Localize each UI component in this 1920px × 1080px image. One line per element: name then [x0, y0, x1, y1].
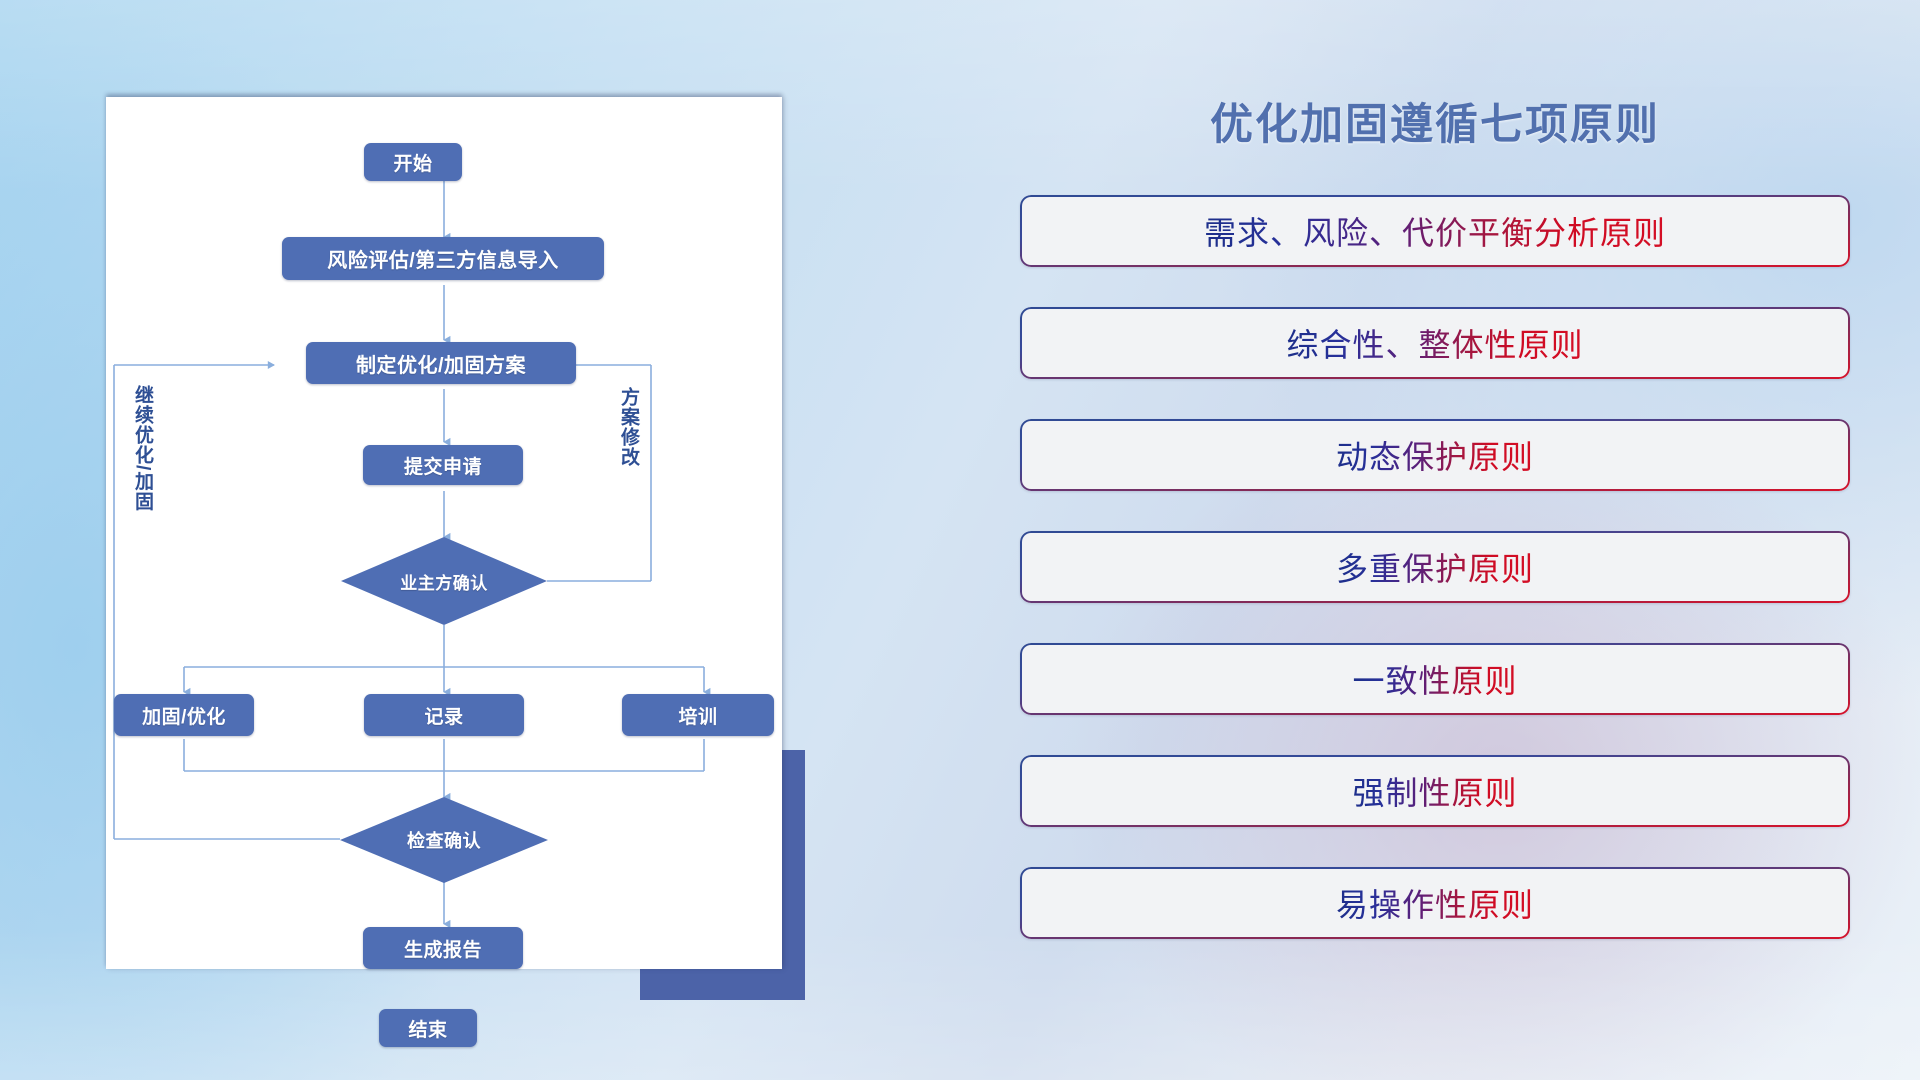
principle-item-6[interactable]: 强制性原则 [1020, 755, 1850, 827]
flow-node-generate-report[interactable]: 生成报告 [363, 927, 523, 969]
principle-item-4[interactable]: 多重保护原则 [1020, 531, 1850, 603]
flow-node-reinforce-optimize[interactable]: 加固/优化 [114, 694, 254, 736]
principle-item-3-label: 动态保护原则 [1336, 432, 1534, 478]
flow-node-submit-application[interactable]: 提交申请 [363, 445, 523, 485]
flow-node-reinforce-optimize-label: 加固/优化 [142, 702, 226, 729]
flow-node-submit-application-label: 提交申请 [404, 452, 482, 479]
principle-item-5-label: 一致性原则 [1352, 656, 1517, 702]
flow-node-risk-assessment[interactable]: 风险评估/第三方信息导入 [282, 237, 604, 280]
flow-node-record[interactable]: 记录 [364, 694, 524, 736]
principle-item-1[interactable]: 需求、风险、代价平衡分析原则 [1020, 195, 1850, 267]
flow-node-training-label: 培训 [678, 702, 717, 729]
principle-item-6-label: 强制性原则 [1352, 768, 1517, 814]
flow-node-end[interactable]: 结束 [379, 1009, 477, 1047]
flow-node-training[interactable]: 培训 [622, 694, 774, 736]
flow-node-generate-report-label: 生成报告 [404, 935, 482, 962]
flow-edge-label-continue-optimize: 继续优化/加固 [132, 385, 152, 511]
flow-node-make-plan-label: 制定优化/加固方案 [356, 349, 526, 378]
principle-item-1-label: 需求、风险、代价平衡分析原则 [1204, 208, 1666, 254]
principle-item-4-label: 多重保护原则 [1336, 544, 1534, 590]
diamond-shape-owner-confirm [341, 537, 547, 625]
flow-node-risk-assessment-label: 风险评估/第三方信息导入 [327, 244, 559, 273]
flow-edge-label-plan-revision: 方案修改 [618, 387, 638, 467]
principle-item-2[interactable]: 综合性、整体性原则 [1020, 307, 1850, 379]
principles-list: 需求、风险、代价平衡分析原则 综合性、整体性原则 动态保护原则 多重保护原则 一… [1020, 195, 1850, 979]
flow-node-start-label: 开始 [393, 149, 432, 176]
principle-item-5[interactable]: 一致性原则 [1020, 643, 1850, 715]
flowchart-canvas: 开始 风险评估/第三方信息导入 制定优化/加固方案 提交申请 业主方确认 加固/… [106, 97, 782, 969]
flow-node-start[interactable]: 开始 [364, 143, 462, 181]
diamond-shape-check-confirm [340, 797, 548, 883]
principles-panel: 优化加固遵循七项原则 需求、风险、代价平衡分析原则 综合性、整体性原则 动态保护… [1020, 90, 1850, 1020]
principle-item-2-label: 综合性、整体性原则 [1286, 320, 1583, 366]
principle-item-3[interactable]: 动态保护原则 [1020, 419, 1850, 491]
flow-node-check-confirm[interactable]: 检查确认 [340, 797, 548, 883]
panel-title: 优化加固遵循七项原则 [1020, 90, 1850, 152]
flow-node-make-plan[interactable]: 制定优化/加固方案 [306, 342, 576, 384]
flow-node-record-label: 记录 [424, 702, 463, 729]
flowchart-card: 开始 风险评估/第三方信息导入 制定优化/加固方案 提交申请 业主方确认 加固/… [106, 97, 782, 969]
principle-item-7[interactable]: 易操作性原则 [1020, 867, 1850, 939]
principle-item-7-label: 易操作性原则 [1336, 880, 1534, 926]
flow-node-end-label: 结束 [408, 1015, 447, 1042]
flow-node-owner-confirm[interactable]: 业主方确认 [341, 537, 547, 625]
